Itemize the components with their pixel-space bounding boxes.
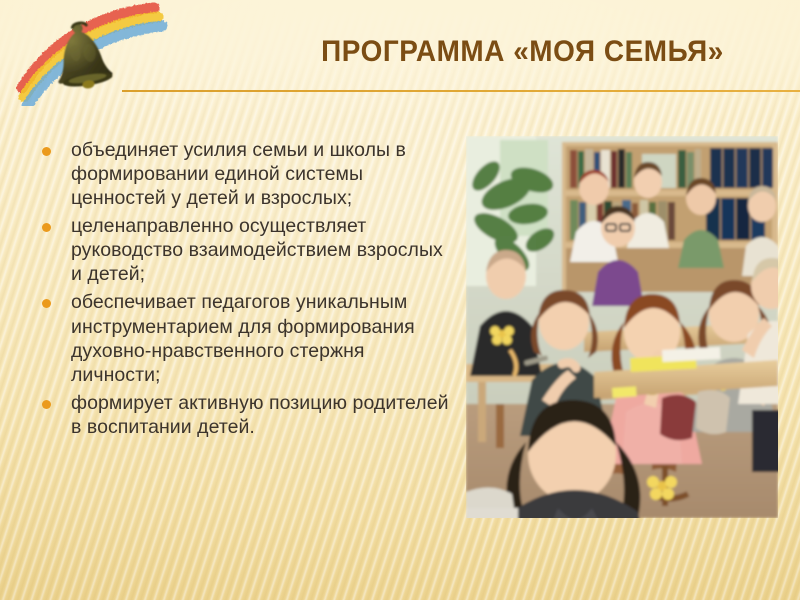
bullet-list: объединяет усилия семьи и школы в формир… — [34, 138, 454, 443]
list-item-text: целенаправленно осуществляет руководство… — [71, 214, 454, 286]
classroom-scene — [466, 136, 778, 518]
bullet-marker-icon — [42, 223, 51, 232]
slide-header: Программа «Моя семья» — [0, 0, 800, 112]
page-title: Программа «Моя семья» — [278, 36, 766, 68]
bullet-marker-icon — [42, 299, 51, 308]
list-item-text: объединяет усилия семьи и школы в формир… — [71, 138, 454, 210]
list-item-text: формирует активную позицию родителей в в… — [71, 391, 454, 439]
title-divider — [122, 90, 800, 92]
bullet-marker-icon — [42, 147, 51, 156]
list-item-text: обеспечивает педагогов уникальным инстру… — [71, 290, 454, 386]
list-item: обеспечивает педагогов уникальным инстру… — [34, 290, 454, 386]
bullet-marker-icon — [42, 400, 51, 409]
list-item: целенаправленно осуществляет руководство… — [34, 214, 454, 286]
list-item: формирует активную позицию родителей в в… — [34, 391, 454, 439]
list-item: объединяет усилия семьи и школы в формир… — [34, 138, 454, 210]
classroom-photo — [466, 136, 778, 518]
classroom-photo-image — [466, 136, 778, 518]
presentation-slide: Программа «Моя семья» объединяет усилия … — [0, 0, 800, 600]
